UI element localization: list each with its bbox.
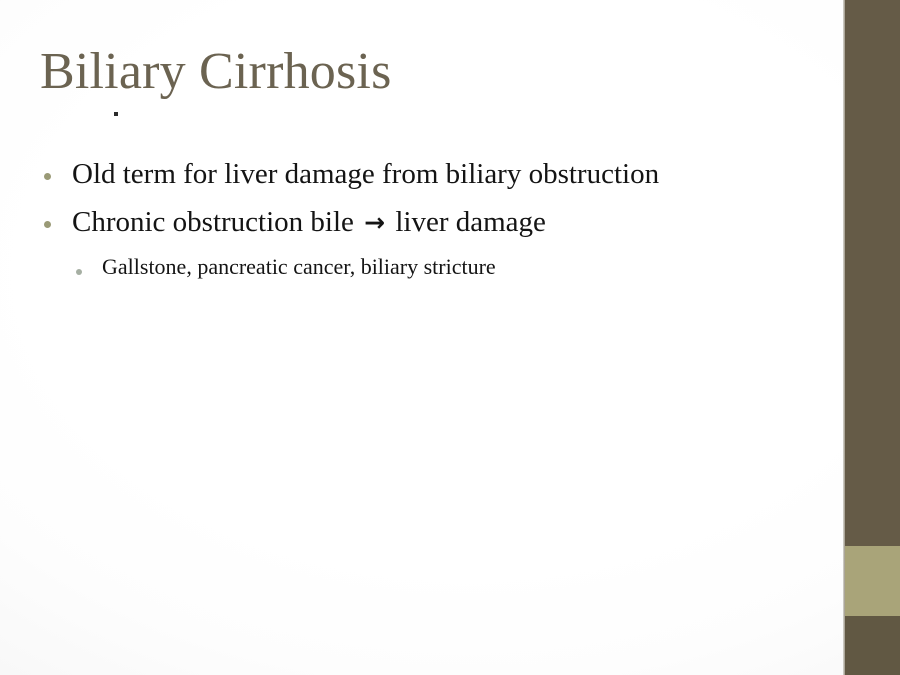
decorative-sidebar: [843, 0, 900, 675]
bullet-item-2-label: Chronic obstruction bile → liver damage: [72, 200, 546, 245]
bullet-item-1-label: Old term for liver damage from biliary o…: [72, 152, 659, 197]
bullet-item-3-label: Gallstone, pancreatic cancer, biliary st…: [102, 248, 496, 286]
bullet-item-2-text-before: Chronic obstruction bile: [72, 206, 361, 238]
bullet-item-1: Old term for liver damage from biliary o…: [44, 152, 824, 197]
sidebar-band-upper-dark: [845, 0, 900, 546]
slide-background: [0, 0, 900, 675]
sidebar-band-khaki-accent: [845, 546, 900, 616]
bullet-marker-icon: [44, 152, 72, 185]
sidebar-band-lower-dark: [845, 616, 900, 675]
bullet-marker-icon: [44, 200, 72, 233]
slide-title: Biliary Cirrhosis: [40, 44, 820, 100]
title-dot-artifact: [114, 112, 118, 116]
right-arrow-icon: →: [361, 208, 388, 237]
sub-bullet-marker-icon: [76, 248, 102, 280]
slide-canvas: Biliary Cirrhosis Old term for liver dam…: [0, 0, 900, 675]
slide-body-content: Old term for liver damage from biliary o…: [44, 152, 824, 286]
bullet-item-2: Chronic obstruction bile → liver damage: [44, 200, 824, 245]
bullet-item-2-text-after: liver damage: [388, 206, 546, 238]
bullet-item-3: Gallstone, pancreatic cancer, biliary st…: [76, 248, 824, 286]
